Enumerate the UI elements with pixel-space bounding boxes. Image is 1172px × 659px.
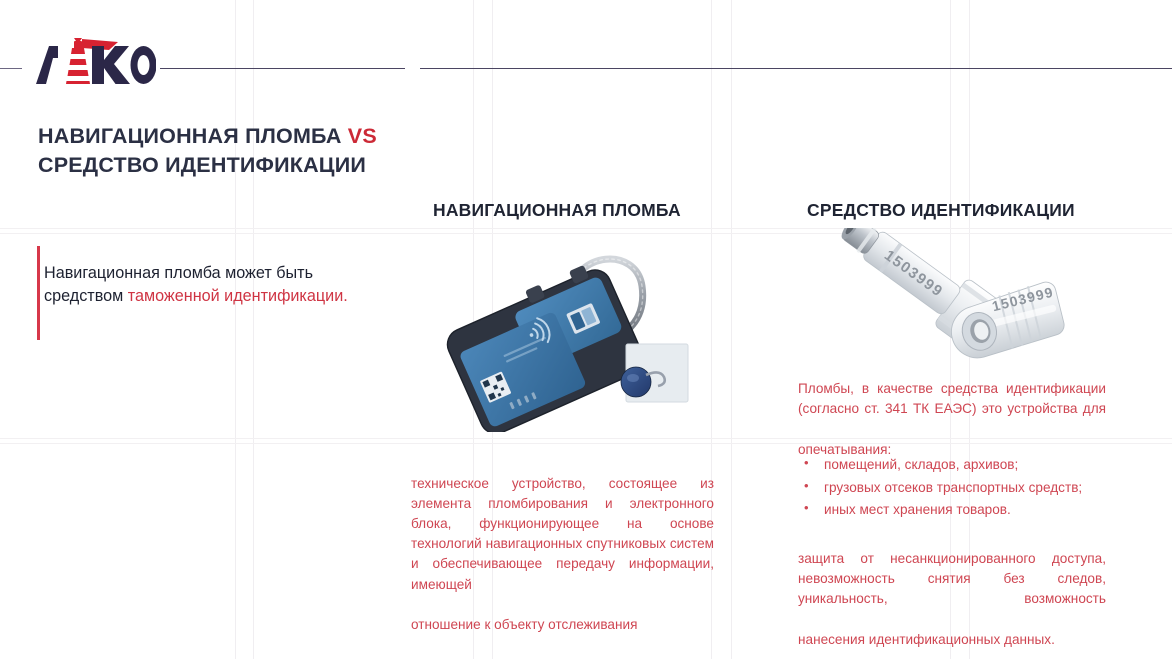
bolt-seal-photo: 1503999 (800, 228, 1100, 376)
identification-means-bullets: помещений, складов, архивов; грузовых от… (798, 455, 1106, 523)
grid-vline (253, 0, 254, 659)
lakor-logo[interactable] (34, 36, 156, 92)
header-rule-stub (0, 68, 22, 69)
page-title-line2: СРЕДСТВО ИДЕНТИФИКАЦИИ (38, 153, 366, 177)
intro-accent-bar (37, 246, 40, 340)
list-item: иных мест хранения товаров. (798, 500, 1106, 520)
identification-means-intro: Пломбы, в качестве средства идентификаци… (798, 379, 1106, 460)
identification-means-outro-tail: нанесения идентификационных данных. (798, 632, 1055, 647)
navigation-seal-definition-head: техническое устройство, состоящее из эле… (411, 476, 714, 612)
list-item: грузовых отсеков транспортных средств; (798, 478, 1106, 498)
intro-text: Навигационная пломба может быть средство… (44, 262, 396, 307)
page-title-vs: VS (348, 124, 377, 148)
identification-means-outro: защита от несанкционированного доступа, … (798, 549, 1106, 650)
grid-vline (731, 0, 732, 659)
identification-means-outro-head: защита от несанкционированного доступа, … (798, 551, 1106, 627)
page-title: НАВИГАЦИОННАЯ ПЛОМБА VS СРЕДСТВО ИДЕНТИФ… (38, 122, 508, 179)
navigation-seal-definition: техническое устройство, состоящее из эле… (411, 474, 714, 635)
column-heading-navigation-seal: НАВИГАЦИОННАЯ ПЛОМБА (433, 200, 681, 221)
grid-vline (235, 0, 236, 659)
intro-text-accent: таможенной идентификации. (128, 287, 348, 305)
page-title-line1: НАВИГАЦИОННАЯ ПЛОМБА (38, 124, 348, 148)
identification-means-intro-head: Пломбы, в качестве средства идентификаци… (798, 381, 1106, 436)
header-rule-right (420, 68, 1172, 69)
column-heading-identification-means: СРЕДСТВО ИДЕНТИФИКАЦИИ (807, 200, 1075, 221)
slide-canvas: НАВИГАЦИОННАЯ ПЛОМБА VS СРЕДСТВО ИДЕНТИФ… (0, 0, 1172, 659)
navigation-seal-photo (440, 232, 730, 432)
header-rule-mid (160, 68, 405, 69)
navigation-seal-definition-tail: отношение к объекту отслеживания (411, 617, 637, 632)
list-item: помещений, складов, архивов; (798, 455, 1106, 475)
